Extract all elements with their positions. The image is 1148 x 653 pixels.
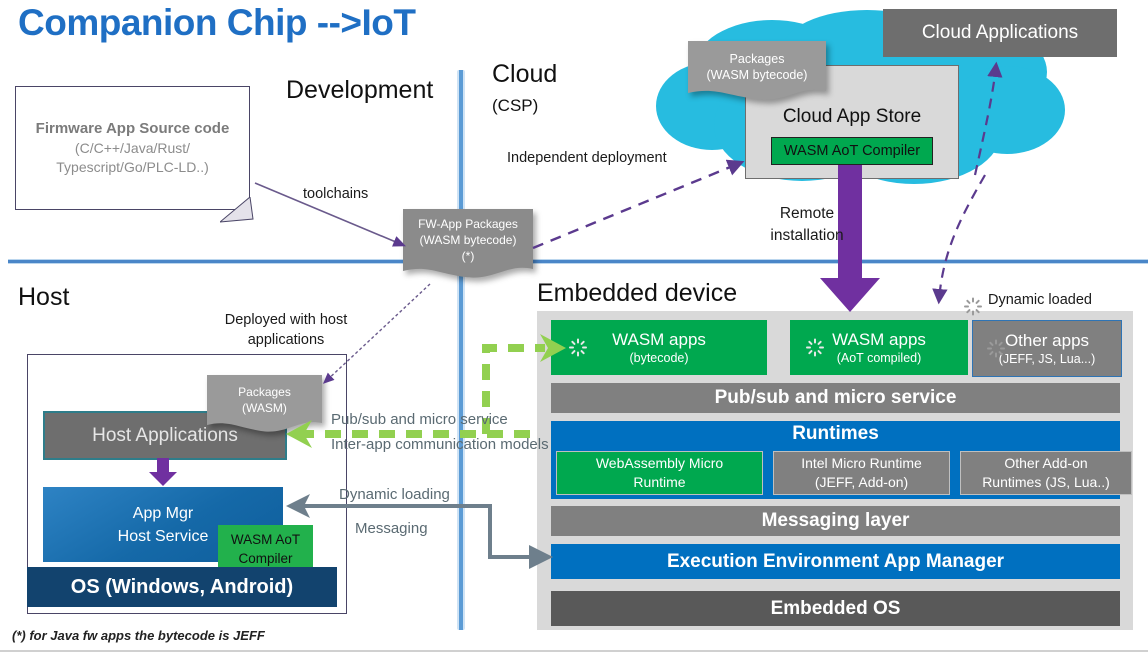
cloud-applications-box[interactable]: Cloud Applications (883, 9, 1117, 57)
embedded-runtimes-block: Runtimes WebAssembly Micro Runtime Intel… (551, 421, 1120, 499)
label-messaging: Messaging (355, 520, 428, 537)
fw-app-packages-shape: FW-App Packages (WASM bytecode) (*) (403, 209, 533, 281)
host-aot-line-2: Compiler (238, 549, 292, 568)
embedded-runtimes-title: Runtimes (792, 423, 879, 445)
slide-canvas: Companion Chip -->IoT Development Cloud … (0, 0, 1148, 653)
section-heading-cloud: Cloud (492, 60, 557, 89)
embedded-runtime-other[interactable]: Other Add-on Runtimes (JS, Lua..) (960, 451, 1132, 495)
label-dynamic-loading: Dynamic loading (339, 486, 450, 503)
embedded-os-label: Embedded OS (771, 598, 901, 620)
embedded-pubsub-bar[interactable]: Pub/sub and micro service (551, 383, 1120, 413)
embedded-app-wasm-aot[interactable]: WASM apps (AoT compiled) (790, 320, 968, 375)
embedded-messaging-bar[interactable]: Messaging layer (551, 506, 1120, 536)
runtime-line-2: Runtime (633, 473, 685, 492)
embedded-app-other[interactable]: Other apps (JEFF, JS, Lua...) (972, 320, 1122, 377)
fw-packages-line-2: (WASM bytecode) (420, 232, 517, 248)
label-independent-deployment: Independent deployment (507, 150, 667, 166)
embedded-app-sub: (JEFF, JS, Lua...) (999, 351, 1096, 367)
embedded-app-sub: (AoT compiled) (837, 350, 922, 366)
cloud-packages-line-2: (WASM bytecode) (707, 67, 808, 83)
embedded-app-sub: (bytecode) (629, 350, 688, 366)
runtime-line-2: Runtimes (JS, Lua..) (982, 473, 1110, 492)
firmware-source-title: Firmware App Source code (36, 120, 230, 137)
host-aot-line-1: WASM AoT (231, 530, 300, 549)
firmware-source-line-1: (C/C++/Java/Rust/ (75, 139, 190, 158)
firmware-source-line-2: Typescript/Go/PLC-LD..) (56, 158, 209, 177)
label-remote-installation: Remote installation (752, 203, 862, 247)
cloud-applications-label: Cloud Applications (922, 22, 1078, 44)
section-subheading-cloud: (CSP) (492, 96, 538, 116)
section-heading-embedded: Embedded device (537, 279, 737, 308)
embedded-os-bar[interactable]: Embedded OS (551, 591, 1120, 626)
fw-packages-line-3: (*) (462, 248, 475, 264)
arrow-cloud-to-device (939, 175, 985, 300)
page-title: Companion Chip -->IoT (18, 2, 415, 44)
cloud-packages-line-1: Packages (730, 51, 785, 67)
host-os-label: OS (Windows, Android) (71, 576, 293, 599)
horizontal-divider-left (8, 260, 456, 263)
host-os-box[interactable]: OS (Windows, Android) (27, 567, 337, 607)
label-deployed-line-2: applications (248, 330, 325, 350)
label-remote-installation-line-2: installation (770, 225, 843, 247)
app-mgr-line-2: Host Service (118, 525, 209, 548)
dynamic-loaded-legend-icon (963, 290, 983, 310)
host-packages-shape: Packages (WASM) (207, 375, 322, 435)
host-packages-line-2: (WASM) (242, 400, 287, 416)
bottom-divider (0, 650, 1148, 652)
embedded-app-wasm-bytecode[interactable]: WASM apps (bytecode) (551, 320, 767, 375)
embedded-app-name: WASM apps (612, 329, 706, 350)
runtime-line-1: Intel Micro Runtime (801, 454, 922, 473)
fw-packages-line-1: FW-App Packages (418, 216, 518, 232)
host-wasm-aot-compiler-box[interactable]: WASM AoT Compiler (218, 525, 313, 572)
runtime-line-2: (JEFF, Add-on) (815, 473, 908, 492)
section-heading-development: Development (286, 76, 433, 105)
label-toolchains: toolchains (303, 186, 368, 202)
embedded-app-name: Other apps (1005, 330, 1089, 351)
embedded-app-manager-bar[interactable]: Execution Environment App Manager (551, 544, 1120, 579)
firmware-source-box[interactable]: Firmware App Source code (C/C++/Java/Rus… (15, 86, 250, 210)
cloud-wasm-aot-compiler-label: WASM AoT Compiler (784, 143, 920, 159)
host-packages-line-1: Packages (238, 384, 291, 400)
cloud-app-store-title: Cloud App Store (783, 106, 921, 128)
embedded-runtime-intel[interactable]: Intel Micro Runtime (JEFF, Add-on) (773, 451, 950, 495)
embedded-pubsub-label: Pub/sub and micro service (715, 387, 957, 409)
label-inter-app-models: Inter-app communication models (331, 436, 549, 453)
label-deployed-with-host: Deployed with host applications (196, 310, 376, 350)
cloud-packages-shape: Packages (WASM bytecode) (688, 41, 826, 103)
dynamic-loaded-legend-label: Dynamic loaded (988, 292, 1092, 308)
embedded-app-name: WASM apps (832, 329, 926, 350)
footnote: (*) for Java fw apps the bytecode is JEF… (12, 628, 265, 643)
section-heading-host: Host (18, 283, 69, 312)
label-remote-installation-line-1: Remote (780, 203, 834, 225)
label-pubsub-micro-service: Pub/sub and micro service (331, 411, 508, 428)
dynamic-loaded-spinner-icon (569, 332, 587, 350)
embedded-messaging-label: Messaging layer (762, 510, 910, 532)
firmware-source-callout-tail (220, 197, 256, 223)
app-mgr-line-1: App Mgr (133, 502, 193, 525)
runtime-line-1: WebAssembly Micro (596, 454, 723, 473)
label-deployed-line-1: Deployed with host (225, 310, 348, 330)
dynamic-loaded-spinner-icon (987, 333, 1005, 351)
runtime-line-1: Other Add-on (1004, 454, 1087, 473)
dynamic-loaded-spinner-icon (806, 332, 824, 350)
embedded-app-manager-label: Execution Environment App Manager (667, 551, 1004, 573)
cloud-wasm-aot-compiler-box[interactable]: WASM AoT Compiler (771, 137, 933, 165)
embedded-runtime-wamr[interactable]: WebAssembly Micro Runtime (556, 451, 763, 495)
horizontal-divider-right (466, 260, 1148, 263)
